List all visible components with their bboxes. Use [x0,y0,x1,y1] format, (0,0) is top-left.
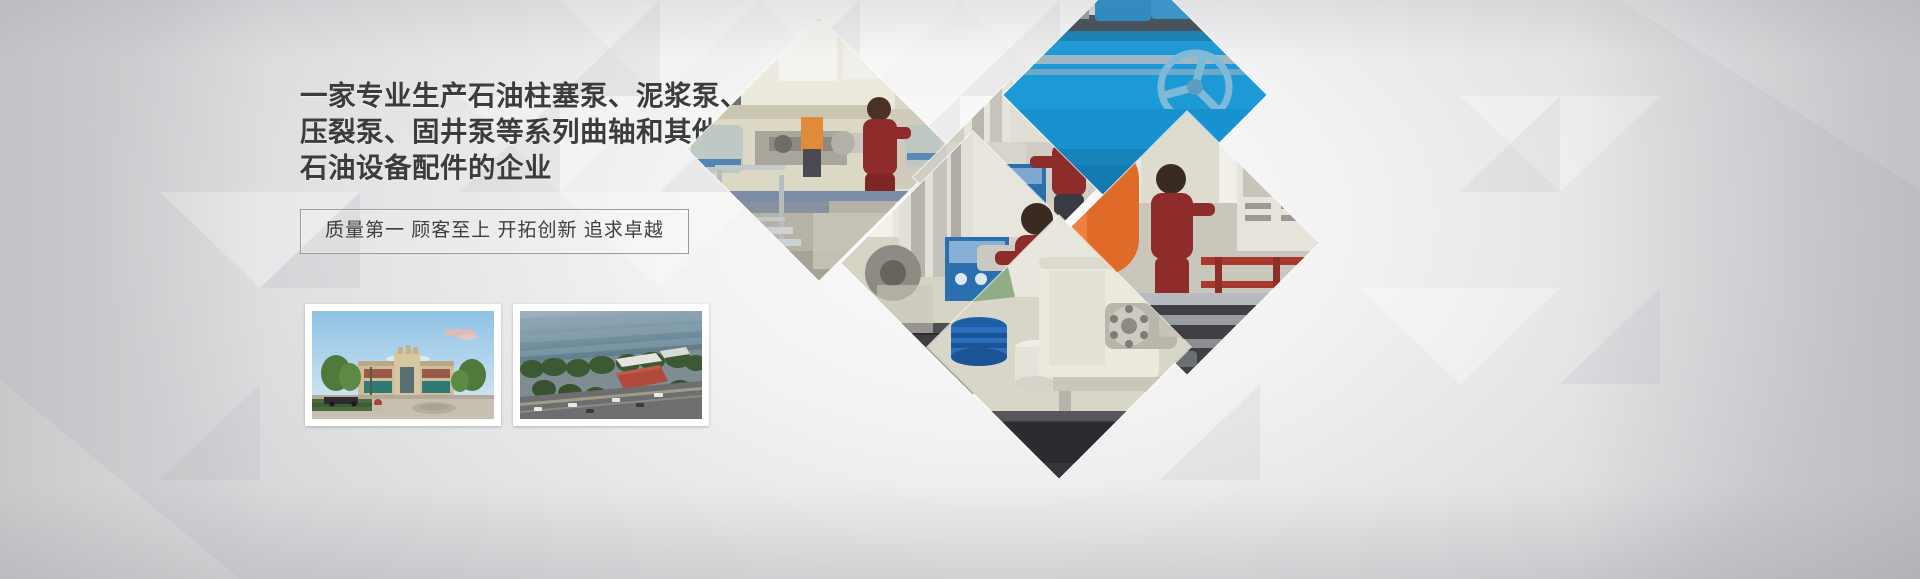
headline-line-3: 石油设备配件的企业 [300,150,720,186]
hero-banner: 一家专业生产石油柱塞泵、泥浆泵、 压裂泵、固井泵等系列曲轴和其他 石油设备配件的… [0,0,1920,579]
tagline-box: 质量第一 顾客至上 开拓创新 追求卓越 [300,209,689,254]
headline-line-1: 一家专业生产石油柱塞泵、泥浆泵、 [300,78,720,114]
page-title: 一家专业生产石油柱塞泵、泥浆泵、 压裂泵、固井泵等系列曲轴和其他 石油设备配件的… [300,78,720,186]
hero-text-block: 一家专业生产石油柱塞泵、泥浆泵、 压裂泵、固井泵等系列曲轴和其他 石油设备配件的… [300,78,720,254]
company-photo-strip [305,304,709,426]
tagline-text: 质量第一 顾客至上 开拓创新 追求卓越 [325,219,664,243]
office-building-photo [312,311,494,419]
factory-aerial-photo-frame[interactable] [513,304,709,426]
office-building-photo-frame[interactable] [305,304,501,426]
factory-aerial-photo [520,311,702,419]
headline-line-2: 压裂泵、固井泵等系列曲轴和其他 [300,114,720,150]
diamond-photo-collage [690,22,1310,422]
